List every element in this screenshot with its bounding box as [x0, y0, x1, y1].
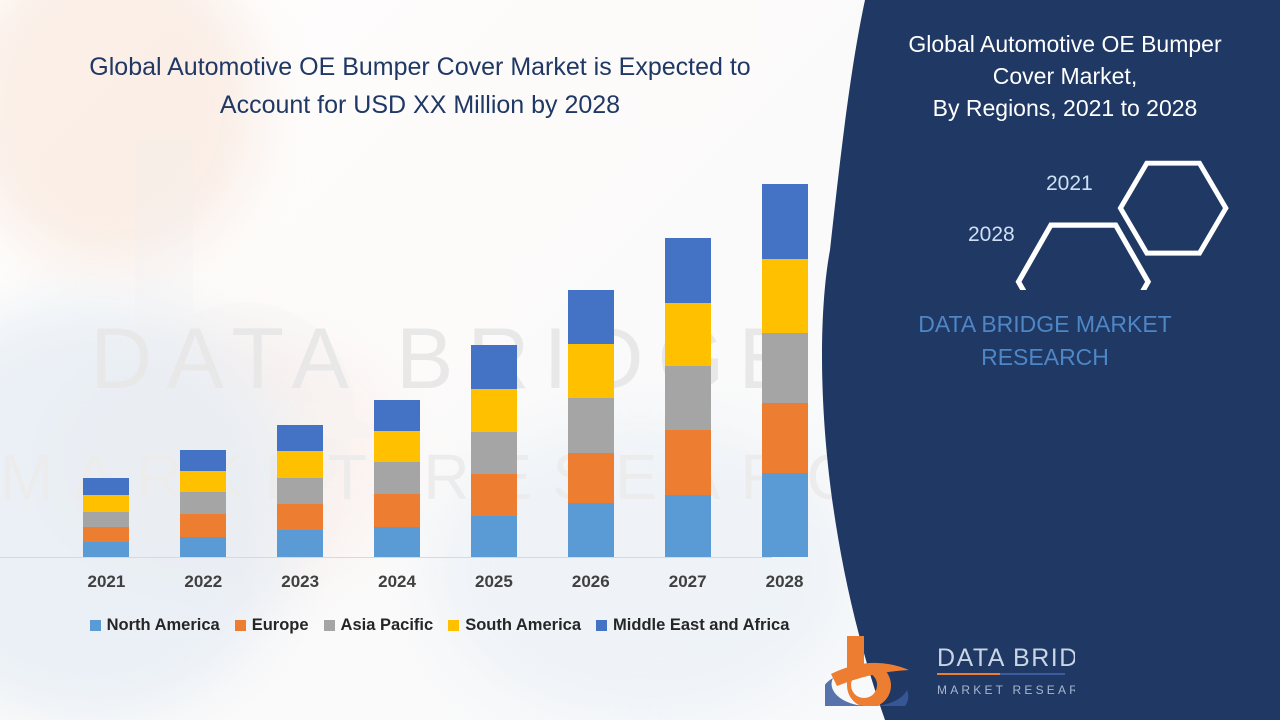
x-axis-label-2022: 2022: [163, 572, 243, 592]
x-axis-label-2024: 2024: [357, 572, 437, 592]
chart-x-axis: 20212022202320242025202620272028: [52, 572, 827, 602]
bar-2021: [83, 478, 129, 557]
bar-segment-2028-north-america: [762, 473, 808, 557]
bar-segment-2023-middle-east-and-africa: [277, 425, 323, 451]
bar-2024: [374, 400, 420, 557]
chart-plot-area: [52, 150, 827, 560]
x-axis-label-2027: 2027: [648, 572, 728, 592]
legend-swatch-icon: [235, 620, 246, 631]
brand-name: DATA BRIDGE MARKET RESEARCH: [845, 308, 1245, 374]
x-axis-label-2021: 2021: [66, 572, 146, 592]
side-panel-title-line-1: Global Automotive OE Bumper: [865, 28, 1265, 60]
bar-segment-2022-north-america: [180, 537, 226, 557]
legend-item-europe[interactable]: Europe: [235, 616, 309, 635]
legend-label: South America: [465, 616, 581, 635]
bar-segment-2027-europe: [665, 430, 711, 495]
bar-segment-2023-asia-pacific: [277, 478, 323, 504]
brand-line-1: DATA BRIDGE MARKET: [845, 308, 1245, 341]
bar-2027: [665, 238, 711, 557]
data-bridge-b-logo-icon: DATA BRIDGE MARKET RESEARCH: [825, 628, 1075, 706]
legend-item-asia-pacific[interactable]: Asia Pacific: [324, 616, 434, 635]
hexagon-outlines: [810, 150, 1280, 290]
hexagon-2021-shape: [1120, 163, 1225, 253]
side-panel: Global Automotive OE Bumper Cover Market…: [810, 0, 1280, 720]
legend-label: Asia Pacific: [341, 616, 434, 635]
chart-legend: North AmericaEuropeAsia PacificSouth Ame…: [52, 616, 827, 635]
bar-segment-2024-asia-pacific: [374, 462, 420, 494]
bar-segment-2022-middle-east-and-africa: [180, 450, 226, 471]
stacked-bar-chart: [52, 150, 827, 560]
x-axis-label-2026: 2026: [551, 572, 631, 592]
bar-segment-2023-north-america: [277, 530, 323, 557]
bar-segment-2027-south-america: [665, 303, 711, 366]
bar-segment-2021-europe: [83, 527, 129, 542]
bar-2022: [180, 450, 226, 557]
hexagon-group: 2021 2028: [810, 150, 1280, 290]
legend-swatch-icon: [324, 620, 335, 631]
chart-title: Global Automotive OE Bumper Cover Market…: [60, 48, 780, 124]
bar-segment-2022-europe: [180, 514, 226, 537]
bar-2025: [471, 345, 517, 557]
x-axis-label-2025: 2025: [454, 572, 534, 592]
legend-label: Middle East and Africa: [613, 616, 789, 635]
bar-segment-2026-asia-pacific: [568, 398, 614, 453]
bar-segment-2027-asia-pacific: [665, 366, 711, 430]
side-panel-title-line-3: By Regions, 2021 to 2028: [865, 92, 1265, 124]
legend-swatch-icon: [90, 620, 101, 631]
bar-segment-2021-south-america: [83, 495, 129, 512]
chart-baseline: [0, 557, 772, 558]
legend-swatch-icon: [596, 620, 607, 631]
bar-segment-2026-south-america: [568, 344, 614, 398]
bar-segment-2025-asia-pacific: [471, 432, 517, 474]
side-panel-title-line-2: Cover Market,: [865, 60, 1265, 92]
bar-2023: [277, 425, 323, 557]
logo-name-line-2: MARKET RESEARCH: [937, 683, 1075, 697]
bar-segment-2027-middle-east-and-africa: [665, 238, 711, 303]
bar-segment-2025-north-america: [471, 516, 517, 557]
bar-segment-2025-europe: [471, 474, 517, 516]
legend-swatch-icon: [448, 620, 459, 631]
bar-segment-2021-north-america: [83, 542, 129, 557]
bar-segment-2024-north-america: [374, 527, 420, 557]
bar-segment-2026-middle-east-and-africa: [568, 290, 614, 344]
data-bridge-logo: DATA BRIDGE MARKET RESEARCH: [825, 628, 1075, 706]
legend-item-middle-east-and-africa[interactable]: Middle East and Africa: [596, 616, 789, 635]
hexagon-2028-shape: [1019, 225, 1149, 290]
bar-segment-2025-south-america: [471, 389, 517, 432]
chart-panel: DATA BRIDGE MARKET RESEARCH Global Autom…: [0, 0, 900, 720]
bar-segment-2027-north-america: [665, 495, 711, 557]
logo-name-line-1: DATA BRIDGE: [937, 644, 1075, 672]
side-panel-title: Global Automotive OE Bumper Cover Market…: [865, 28, 1265, 124]
legend-item-north-america[interactable]: North America: [90, 616, 220, 635]
bar-segment-2028-asia-pacific: [762, 333, 808, 403]
bar-segment-2028-middle-east-and-africa: [762, 184, 808, 259]
bar-segment-2028-europe: [762, 403, 808, 473]
legend-label: North America: [107, 616, 220, 635]
bar-2026: [568, 290, 614, 557]
brand-line-2: RESEARCH: [845, 341, 1245, 374]
bar-segment-2025-middle-east-and-africa: [471, 345, 517, 389]
bar-segment-2021-middle-east-and-africa: [83, 478, 129, 495]
bar-segment-2024-south-america: [374, 431, 420, 462]
bar-segment-2021-asia-pacific: [83, 512, 129, 527]
bar-2028: [762, 184, 808, 557]
bar-segment-2026-north-america: [568, 503, 614, 557]
bar-segment-2023-europe: [277, 504, 323, 530]
hexagon-2021-label: 2021: [1046, 172, 1093, 196]
bar-segment-2026-europe: [568, 453, 614, 503]
x-axis-label-2023: 2023: [260, 572, 340, 592]
legend-label: Europe: [252, 616, 309, 635]
bar-segment-2024-europe: [374, 494, 420, 527]
legend-item-south-america[interactable]: South America: [448, 616, 581, 635]
bar-segment-2024-middle-east-and-africa: [374, 400, 420, 431]
bar-segment-2022-asia-pacific: [180, 492, 226, 514]
hexagon-2028-label: 2028: [968, 223, 1015, 247]
bar-segment-2028-south-america: [762, 259, 808, 333]
bar-segment-2023-south-america: [277, 451, 323, 478]
bar-segment-2022-south-america: [180, 471, 226, 492]
